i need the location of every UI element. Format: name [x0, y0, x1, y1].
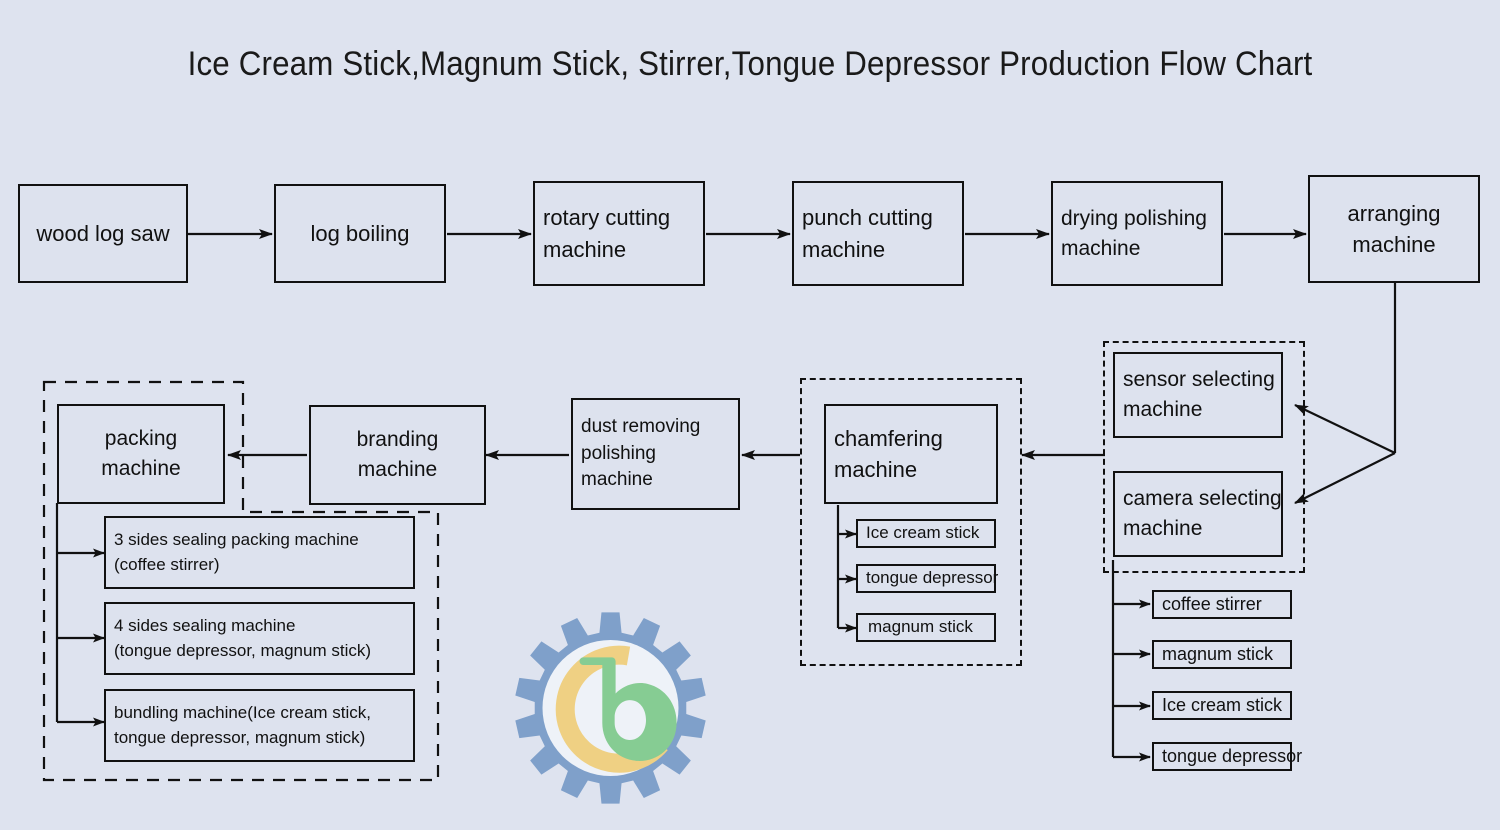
node-label: coffee stirrer	[1162, 592, 1262, 618]
node-label-line2: machine	[1123, 395, 1202, 425]
node-label-line1: chamfering	[834, 423, 943, 454]
node-punch-cutting-machine[interactable]: punch cutting machine	[792, 181, 964, 286]
node-label-line2: machine	[834, 454, 917, 485]
node-label-line3: machine	[581, 467, 653, 494]
node-chamfering-machine[interactable]: chamfering machine	[824, 404, 998, 504]
node-label: wood log saw	[36, 218, 169, 249]
node-label-line1: bundling machine(Ice cream stick,	[114, 701, 371, 725]
node-label-line2: machine	[1123, 514, 1202, 544]
node-log-boiling[interactable]: log boiling	[274, 184, 446, 283]
node-label: tongue depressor	[866, 566, 998, 590]
node-label-line1: rotary cutting	[543, 202, 670, 233]
node-label-line2: tongue depressor, magnum stick)	[114, 726, 365, 750]
node-label-line1: sensor selecting	[1123, 365, 1275, 395]
node-rotary-cutting-machine[interactable]: rotary cutting machine	[533, 181, 705, 286]
node-chamfering-output-magnum-stick[interactable]: magnum stick	[856, 613, 996, 642]
node-packing-output-4-sides-sealing[interactable]: 4 sides sealing machine (tongue depresso…	[104, 602, 415, 675]
company-gear-logo	[503, 608, 718, 808]
node-arranging-machine[interactable]: arranging machine	[1308, 175, 1480, 283]
page-title: Ice Cream Stick,Magnum Stick, Stirrer,To…	[60, 45, 1440, 84]
node-branding-machine[interactable]: branding machine	[309, 405, 486, 505]
node-label: magnum stick	[868, 615, 973, 639]
node-label-line2: machine	[543, 234, 626, 265]
node-label-line1: dust removing	[581, 414, 700, 441]
node-output-tongue-depressor[interactable]: tongue depressor	[1152, 742, 1292, 771]
node-sensor-selecting-machine[interactable]: sensor selecting machine	[1113, 352, 1283, 438]
node-label-line2: machine	[1061, 234, 1140, 264]
node-drying-polishing-machine[interactable]: drying polishing machine	[1051, 181, 1223, 286]
node-label-line2: machine	[101, 454, 180, 484]
node-label-line1: camera selecting	[1123, 484, 1282, 514]
node-chamfering-output-ice-cream-stick[interactable]: Ice cream stick	[856, 519, 996, 548]
node-wood-log-saw[interactable]: wood log saw	[18, 184, 188, 283]
node-label-line1: punch cutting	[802, 202, 933, 233]
node-packing-machine[interactable]: packing machine	[57, 404, 225, 504]
flow-chart-canvas: Ice Cream Stick,Magnum Stick, Stirrer,To…	[0, 0, 1500, 830]
node-label-line2: machine	[358, 455, 437, 485]
node-label: Ice cream stick	[1162, 693, 1282, 719]
node-output-ice-cream-stick[interactable]: Ice cream stick	[1152, 691, 1292, 720]
node-label-line1: 3 sides sealing packing machine	[114, 528, 359, 552]
node-label: log boiling	[310, 218, 409, 249]
node-label: tongue depressor	[1162, 744, 1302, 770]
node-label: Ice cream stick	[866, 521, 979, 545]
node-label-line2: (tongue depressor, magnum stick)	[114, 639, 371, 663]
node-label-line1: packing	[105, 424, 177, 454]
node-label: magnum stick	[1162, 642, 1273, 668]
node-label-line2: machine	[1352, 229, 1435, 260]
node-output-magnum-stick[interactable]: magnum stick	[1152, 640, 1292, 669]
node-label-line1: 4 sides sealing machine	[114, 614, 295, 638]
node-output-coffee-stirrer[interactable]: coffee stirrer	[1152, 590, 1292, 619]
node-packing-output-3-sides-sealing[interactable]: 3 sides sealing packing machine (coffee …	[104, 516, 415, 589]
node-chamfering-output-tongue-depressor[interactable]: tongue depressor	[856, 564, 996, 593]
node-label-line2: (coffee stirrer)	[114, 553, 220, 577]
node-label-line1: branding	[357, 425, 439, 455]
node-label-line1: arranging	[1348, 198, 1441, 229]
node-packing-output-bundling-machine[interactable]: bundling machine(Ice cream stick, tongue…	[104, 689, 415, 762]
node-dust-removing-polishing-machine[interactable]: dust removing polishing machine	[571, 398, 740, 510]
node-label-line1: drying polishing	[1061, 204, 1207, 234]
node-camera-selecting-machine[interactable]: camera selecting machine	[1113, 471, 1283, 557]
node-label-line2: machine	[802, 234, 885, 265]
node-label-line2: polishing	[581, 441, 656, 468]
